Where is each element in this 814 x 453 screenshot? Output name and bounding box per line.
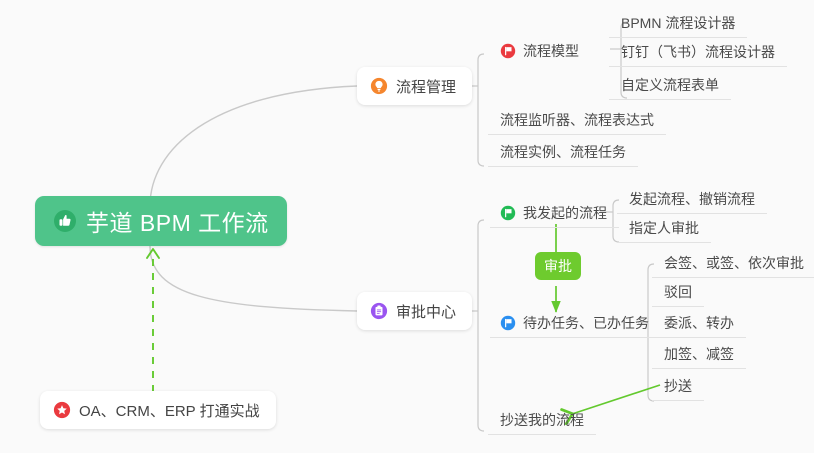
branch-label: 审批中心 (396, 301, 456, 322)
leaf-countersign[interactable]: 会签、或签、依次审批 (652, 248, 814, 278)
leaf-cc[interactable]: 抄送 (652, 371, 704, 401)
leaf-dingtalk-designer[interactable]: 钉钉（飞书）流程设计器 (609, 37, 787, 67)
root-label: 芋道 BPM 工作流 (86, 204, 269, 238)
flag-icon (500, 315, 516, 331)
approval-tag-label: 审批 (544, 256, 572, 276)
leaf-delegate-transfer[interactable]: 委派、转办 (652, 308, 746, 338)
leaf-label: 流程模型 (523, 41, 579, 61)
leaf-bpmn-designer[interactable]: BPMN 流程设计器 (609, 8, 747, 38)
star-icon (53, 401, 71, 419)
branch-approval-center[interactable]: 审批中心 (357, 292, 472, 330)
flag-icon (500, 205, 516, 221)
thumbs-up-icon (53, 209, 77, 233)
branch-label: 流程管理 (396, 76, 456, 97)
branch-process-management[interactable]: 流程管理 (357, 67, 472, 105)
approval-tag: 审批 (535, 252, 581, 280)
leaf-process-model[interactable]: 流程模型 (490, 36, 591, 66)
leaf-my-started-processes[interactable]: 我发起的流程 (490, 198, 619, 228)
mindmap-canvas: 芋道 BPM 工作流 流程管理 流程模型 BPMN 流程设计器 钉钉（飞书）流程 (0, 0, 814, 453)
leaf-assignee-approval[interactable]: 指定人审批 (617, 213, 711, 243)
clipboard-icon (370, 302, 388, 320)
leaf-reject[interactable]: 驳回 (652, 277, 704, 307)
root-node[interactable]: 芋道 BPM 工作流 (35, 196, 287, 246)
footnote-node[interactable]: OA、CRM、ERP 打通实战 (40, 391, 276, 429)
flag-icon (500, 43, 516, 59)
leaf-custom-form[interactable]: 自定义流程表单 (609, 70, 731, 100)
leaf-label: 待办任务、已办任务 (523, 313, 649, 333)
footnote-label: OA、CRM、ERP 打通实战 (79, 400, 260, 421)
leaf-start-cancel-process[interactable]: 发起流程、撤销流程 (617, 184, 767, 214)
leaf-todo-done-tasks[interactable]: 待办任务、已办任务 (490, 308, 661, 338)
leaf-process-listener[interactable]: 流程监听器、流程表达式 (488, 105, 666, 135)
leaf-cc-to-me[interactable]: 抄送我的流程 (488, 405, 596, 435)
lightbulb-icon (370, 77, 388, 95)
leaf-process-instance[interactable]: 流程实例、流程任务 (488, 137, 638, 167)
leaf-add-remove-sign[interactable]: 加签、减签 (652, 339, 746, 369)
leaf-label: 我发起的流程 (523, 203, 607, 223)
